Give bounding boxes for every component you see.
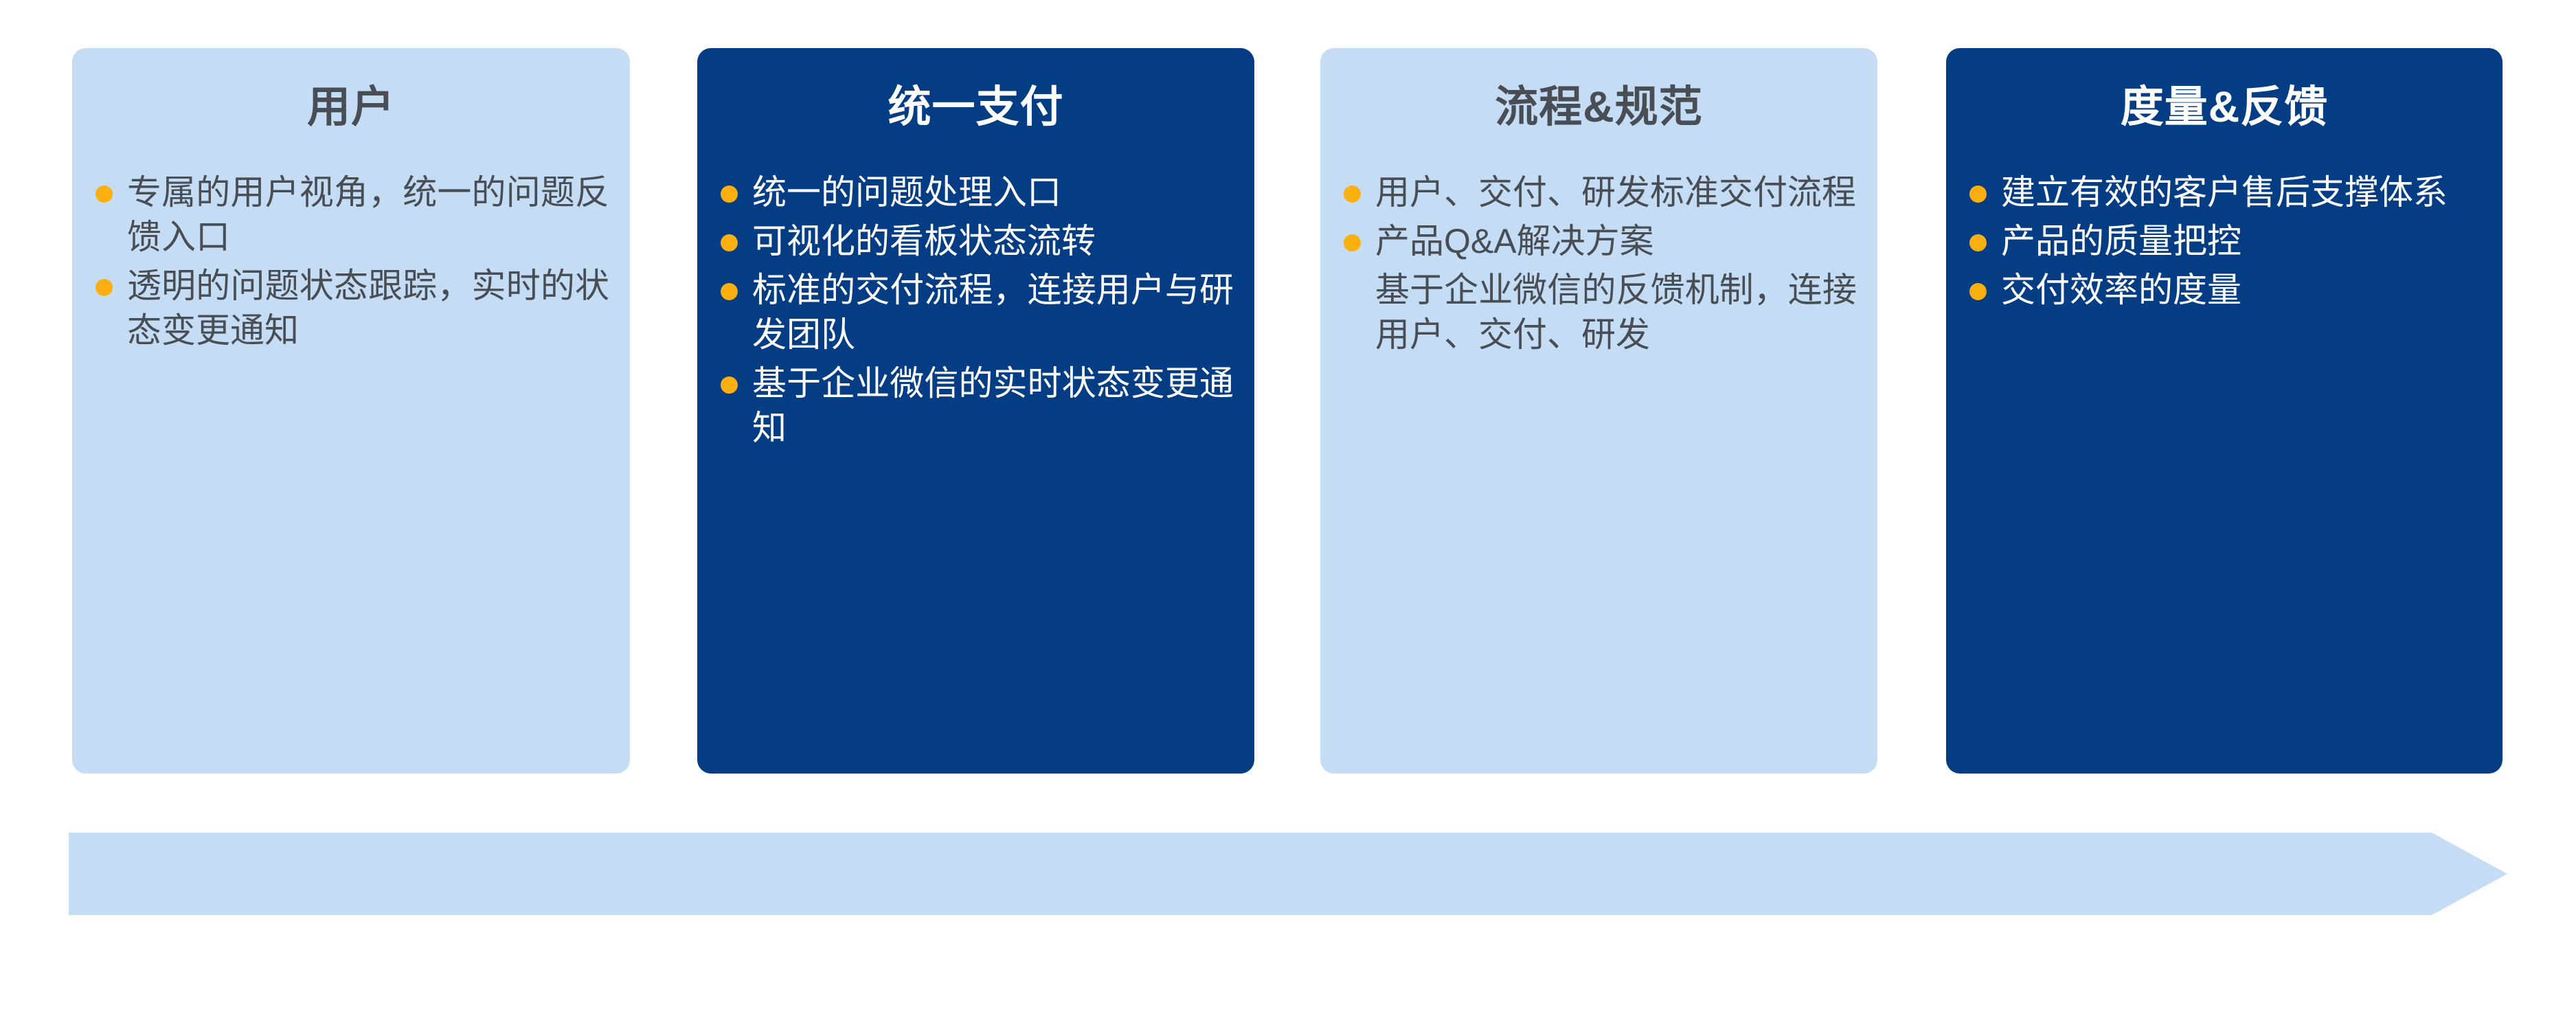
card-title: 统一支付 [718, 84, 1234, 131]
bullet-dot-icon [1344, 234, 1361, 251]
card-unified-payment[interactable]: 统一支付 统一的问题处理入口 可视化的看板状态流转 标准的交付流程，连接用户与研… [697, 48, 1254, 774]
card-process-standards[interactable]: 流程&规范 用户、交付、研发标准交付流程 产品Q&A解决方案 基于企业微信的反馈… [1320, 48, 1877, 774]
list-item: 交付效率的度量 [1967, 268, 2482, 313]
list-item: 标准的交付流程，连接用户与研发团队 [718, 268, 1234, 357]
list-item: 统一的问题处理入口 [718, 170, 1234, 215]
arrow-polygon [69, 833, 2507, 915]
bullet-text: 可视化的看板状态流转 [752, 219, 1234, 264]
bullet-text: 基于企业微信的反馈机制，连接用户、交付、研发 [1375, 268, 1857, 357]
bullet-dot-icon [1969, 283, 1987, 300]
bullet-text: 透明的问题状态跟踪，实时的状态变更通知 [127, 264, 609, 353]
bullet-text: 建立有效的客户售后支撑体系 [2001, 170, 2482, 215]
bullet-dot-icon [1969, 185, 1987, 203]
list-item: 专属的用户视角，统一的问题反馈入口 [93, 170, 609, 260]
bullet-list: 专属的用户视角，统一的问题反馈入口 透明的问题状态跟踪，实时的状态变更通知 [93, 170, 609, 353]
bullet-text: 产品的质量把控 [2001, 219, 2482, 264]
bullet-dot-icon [721, 185, 738, 203]
list-item: 产品的质量把控 [1967, 219, 2482, 264]
bullet-list: 统一的问题处理入口 可视化的看板状态流转 标准的交付流程，连接用户与研发团队 基… [718, 170, 1234, 451]
bullet-text: 专属的用户视角，统一的问题反馈入口 [127, 170, 609, 260]
bullet-text: 标准的交付流程，连接用户与研发团队 [752, 268, 1234, 357]
bullet-text: 用户、交付、研发标准交付流程 [1375, 170, 1857, 215]
list-item: 可视化的看板状态流转 [718, 219, 1234, 264]
bullet-list: 用户、交付、研发标准交付流程 产品Q&A解决方案 基于企业微信的反馈机制，连接用… [1341, 170, 1857, 357]
list-item: 用户、交付、研发标准交付流程 [1341, 170, 1857, 215]
card-title: 度量&反馈 [1967, 84, 2482, 131]
arrow-shape-icon [0, 818, 2576, 941]
bullet-text: 基于企业微信的实时状态变更通知 [752, 361, 1234, 451]
bullet-text: 交付效率的度量 [2001, 268, 2482, 313]
bullet-dot-icon [721, 283, 738, 300]
list-item: 产品Q&A解决方案 [1341, 219, 1857, 264]
card-user[interactable]: 用户 专属的用户视角，统一的问题反馈入口 透明的问题状态跟踪，实时的状态变更通知 [72, 48, 630, 774]
list-item: 基于企业微信的实时状态变更通知 [718, 361, 1234, 451]
bullet-dot-icon [95, 185, 113, 203]
bullet-text: 统一的问题处理入口 [752, 170, 1234, 215]
bullet-dot-icon [721, 376, 738, 394]
card-title: 流程&规范 [1341, 84, 1857, 131]
list-item: 建立有效的客户售后支撑体系 [1967, 170, 2482, 215]
slide-canvas: 用户 专属的用户视角，统一的问题反馈入口 透明的问题状态跟踪，实时的状态变更通知… [0, 0, 2576, 1014]
bullet-list: 建立有效的客户售后支撑体系 产品的质量把控 交付效率的度量 [1967, 170, 2482, 313]
list-item-sub: 基于企业微信的反馈机制，连接用户、交付、研发 [1341, 268, 1857, 357]
list-item: 透明的问题状态跟踪，实时的状态变更通知 [93, 264, 609, 353]
card-title: 用户 [93, 84, 609, 131]
bullet-dot-icon [1344, 185, 1361, 203]
bullet-text: 产品Q&A解决方案 [1375, 219, 1857, 264]
process-flow-arrow [0, 818, 2576, 941]
card-metrics-feedback[interactable]: 度量&反馈 建立有效的客户售后支撑体系 产品的质量把控 交付效率的度量 [1946, 48, 2502, 774]
bullet-dot-icon [721, 234, 738, 251]
bullet-dot-icon [1969, 234, 1987, 251]
bullet-dot-icon [95, 279, 113, 296]
